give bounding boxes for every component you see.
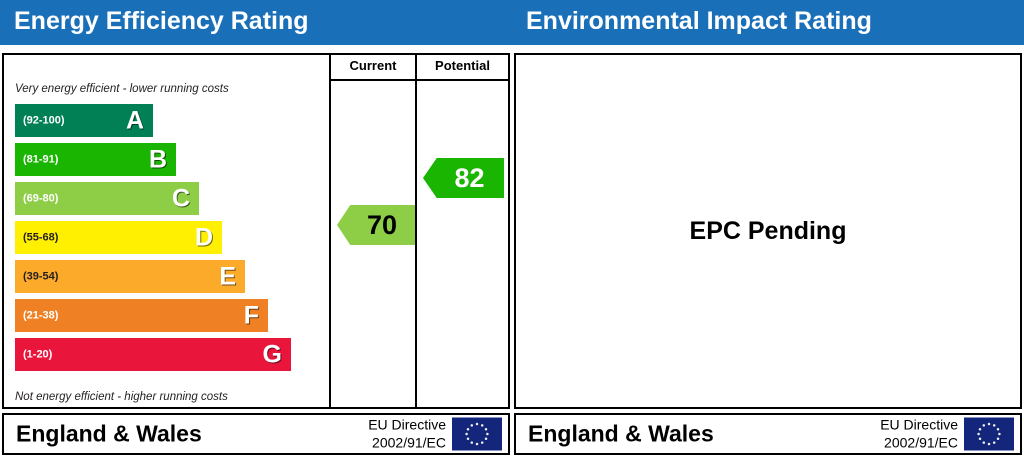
band-d: (55-68) D <box>15 221 222 254</box>
footer-directive-left: EU Directive 2002/91/EC <box>368 417 446 452</box>
band-a-range: (92-100) <box>23 115 65 126</box>
band-a-letter: A <box>126 108 144 133</box>
energy-efficiency-footer: England & Wales EU Directive 2002/91/EC <box>2 413 510 455</box>
band-f: (21-38) F <box>15 299 268 332</box>
band-e-letter: E <box>219 264 236 289</box>
band-g-letter: G <box>263 342 282 367</box>
caption-not-efficient: Not energy efficient - higher running co… <box>15 391 228 403</box>
band-b: (81-91) B <box>15 143 176 176</box>
energy-efficiency-title: Energy Efficiency Rating <box>14 7 309 36</box>
energy-efficiency-header: Energy Efficiency Rating <box>0 0 512 45</box>
footer-region-label-left: England & Wales <box>16 421 202 448</box>
band-d-letter: D <box>195 225 213 250</box>
epc-pending-text: EPC Pending <box>690 217 847 246</box>
potential-rating-value: 82 <box>442 165 484 192</box>
energy-efficiency-chart: Current Potential Very energy efficient … <box>2 53 510 409</box>
current-rating-value: 70 <box>355 212 397 239</box>
column-divider-potential <box>415 55 417 407</box>
environmental-impact-footer: England & Wales EU Directive 2002/91/EC <box>514 413 1022 455</box>
column-header-separator <box>329 79 508 81</box>
column-header-potential: Potential <box>417 58 508 73</box>
band-d-range: (55-68) <box>23 232 58 243</box>
environmental-impact-header: Environmental Impact Rating <box>512 0 1024 45</box>
band-a: (92-100) A <box>15 104 153 137</box>
band-c-letter: C <box>172 186 190 211</box>
band-f-letter: F <box>244 303 259 328</box>
band-c: (69-80) C <box>15 182 199 215</box>
band-e: (39-54) E <box>15 260 245 293</box>
band-g: (1-20) G <box>15 338 291 371</box>
band-b-letter: B <box>149 147 167 172</box>
footer-directive-line2-left: 2002/91/EC <box>368 434 446 452</box>
column-divider-current <box>329 55 331 407</box>
potential-rating-arrow: 82 <box>423 158 504 198</box>
energy-efficiency-panel: Energy Efficiency Rating Current Potenti… <box>0 0 512 457</box>
caption-very-efficient: Very energy efficient - lower running co… <box>15 83 229 95</box>
epc-certificate-graphic: Energy Efficiency Rating Current Potenti… <box>0 0 1024 457</box>
footer-directive-line2-right: 2002/91/EC <box>880 434 958 452</box>
environmental-impact-panel: Environmental Impact Rating EPC Pending … <box>512 0 1024 457</box>
column-header-current: Current <box>331 58 415 73</box>
footer-directive-line1-left: EU Directive <box>368 417 446 435</box>
footer-directive-line1-right: EU Directive <box>880 417 958 435</box>
footer-region-label-right: England & Wales <box>528 421 714 448</box>
eu-flag-icon-right <box>964 418 1014 451</box>
rating-bands-area: Very energy efficient - lower running co… <box>4 81 327 407</box>
band-c-range: (69-80) <box>23 193 58 204</box>
band-b-range: (81-91) <box>23 154 58 165</box>
band-e-range: (39-54) <box>23 271 58 282</box>
band-f-range: (21-38) <box>23 310 58 321</box>
environmental-impact-title: Environmental Impact Rating <box>526 7 872 36</box>
band-g-range: (1-20) <box>23 349 52 360</box>
current-rating-arrow: 70 <box>337 205 415 245</box>
environmental-impact-body: EPC Pending <box>514 53 1022 409</box>
eu-flag-icon-left <box>452 418 502 451</box>
footer-directive-right: EU Directive 2002/91/EC <box>880 417 958 452</box>
